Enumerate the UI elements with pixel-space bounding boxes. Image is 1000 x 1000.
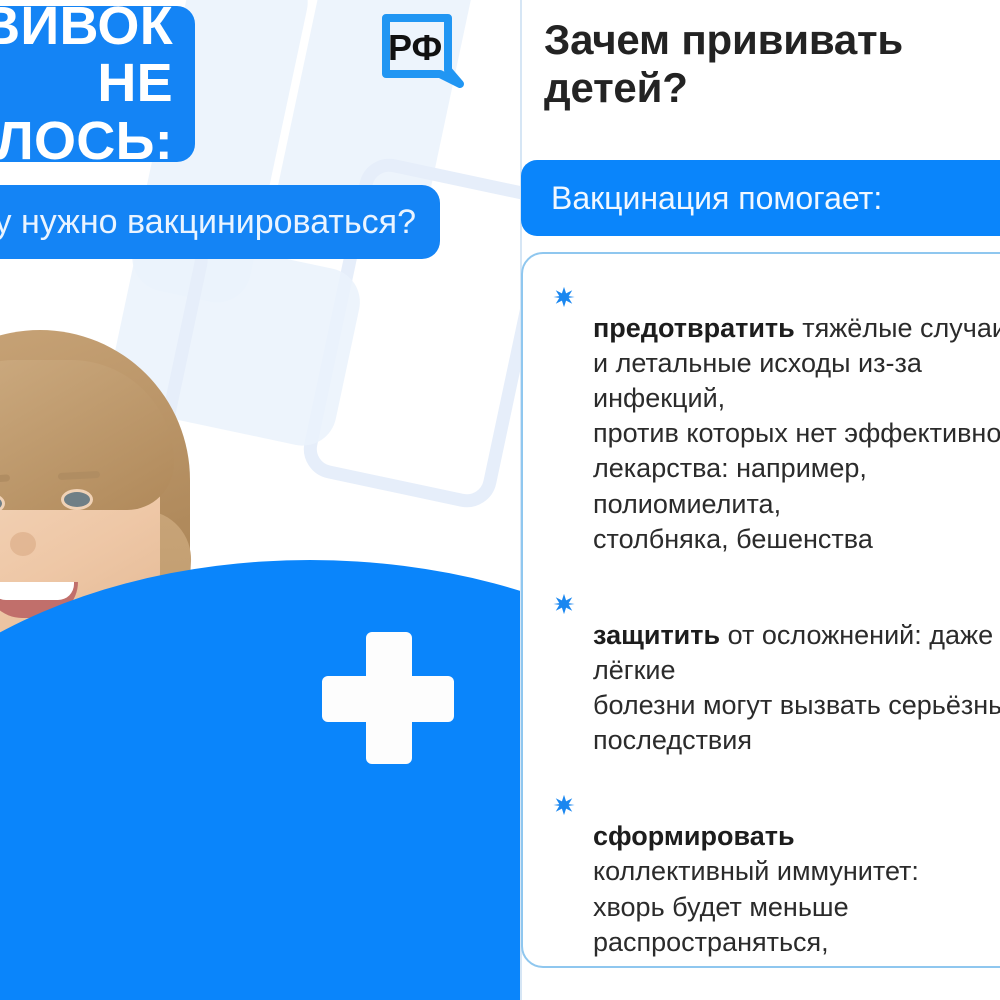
list-item-lead: защитить <box>593 620 720 650</box>
svg-text:РФ: РФ <box>388 27 442 68</box>
list-item: сформировать коллективный иммунитет: хво… <box>553 784 1000 968</box>
list-item-body: коллективный иммунитет: хворь будет мень… <box>593 856 931 968</box>
page-title: Зачем прививать детей? <box>544 16 1000 112</box>
list-item-text: защитить от осложнений: даже лёгкие боле… <box>593 583 1000 758</box>
right-panel: Зачем прививать детей? Вакцинация помога… <box>521 0 1000 1000</box>
left-subtitle-pill: Кому нужно вакцинироваться? <box>0 185 440 259</box>
blue-footer-band <box>0 930 521 1000</box>
blue-star-bullet-icon <box>553 593 577 758</box>
vaccination-helps-banner: Вакцинация помогает: <box>521 160 1000 236</box>
blue-star-bullet-icon <box>553 286 577 557</box>
benefits-card: предотвратить тяжёлые случаи и летальные… <box>521 252 1000 968</box>
poster-canvas: ПРИВИВОК НЕ БОЯЛОСЬ: Кому нужно вакцинир… <box>0 0 1000 1000</box>
left-title-text: ПРИВИВОК НЕ БОЯЛОСЬ: <box>0 0 173 170</box>
list-item-lead: сформировать <box>593 821 795 851</box>
left-subtitle-text: Кому нужно вакцинироваться? <box>0 203 416 242</box>
left-title-pill: ПРИВИВОК НЕ БОЯЛОСЬ: <box>0 6 195 162</box>
list-item-body: тяжёлые случаи и летальные исходы из-за … <box>593 313 1000 554</box>
list-item-text: сформировать коллективный иммунитет: хво… <box>593 784 1000 968</box>
list-item: защитить от осложнений: даже лёгкие боле… <box>553 583 1000 758</box>
blue-star-bullet-icon <box>553 794 577 968</box>
list-item-text: предотвратить тяжёлые случаи и летальные… <box>593 276 1000 557</box>
banner-label: Вакцинация помогает: <box>551 180 882 217</box>
list-item: предотвратить тяжёлые случаи и летальные… <box>553 276 1000 557</box>
rf-speech-bubble-logo: РФ <box>376 8 464 96</box>
list-item-lead: предотвратить <box>593 313 795 343</box>
medical-cross-icon <box>322 632 454 764</box>
left-panel: ПРИВИВОК НЕ БОЯЛОСЬ: Кому нужно вакцинир… <box>0 0 521 1000</box>
